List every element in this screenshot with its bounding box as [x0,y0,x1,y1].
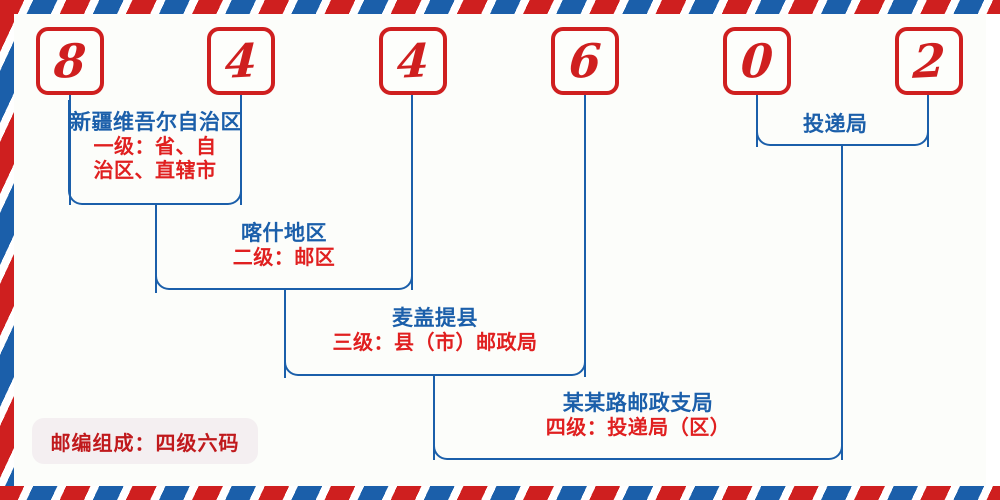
level-4-box: 某某路邮政支局 四级：投递局（区） [433,385,843,460]
digit-glyph: 8 [53,37,88,85]
postcode-digit-4[interactable]: 6 [551,27,619,95]
digit-glyph: 4 [224,37,259,85]
level-3-subtitle: 三级：县（市）邮政局 [286,331,584,355]
digit-glyph: 2 [912,37,947,85]
postcode-digit-2[interactable]: 4 [207,27,275,95]
level-3-box: 麦盖提县 三级：县（市）邮政局 [284,300,586,376]
level-1-title: 新疆维吾尔自治区 [70,110,240,135]
level-2-subtitle: 二级：邮区 [157,246,411,270]
level-1-subtitle-line-2: 治区、直辖市 [70,159,240,183]
postcode-digit-5[interactable]: 0 [723,27,791,95]
delivery-office-label: 投递局 [803,108,868,138]
airmail-stripe-left [0,0,14,500]
level-2-box: 喀什地区 二级：邮区 [155,215,413,290]
legend-badge-text: 邮编组成：四级六码 [51,427,240,456]
envelope-diagram: 8 4 4 6 0 2 新疆维吾尔自治区 一级：省、自 治区、直辖市 喀什地区 … [0,0,1000,500]
level-1-box: 新疆维吾尔自治区 一级：省、自 治区、直辖市 [68,100,242,205]
airmail-stripe-top [0,0,1000,14]
postcode-digit-1[interactable]: 8 [36,27,104,95]
digit-glyph: 0 [740,37,775,85]
postcode-digit-3[interactable]: 4 [379,27,447,95]
level-4-subtitle: 四级：投递局（区） [435,416,841,440]
level-1-subtitle-line-1: 一级：省、自 [70,135,240,159]
digit-glyph: 4 [396,37,431,85]
level-4-title: 某某路邮政支局 [435,391,841,416]
airmail-stripe-bottom [0,486,1000,500]
postcode-digit-6[interactable]: 2 [895,27,963,95]
digit-glyph: 6 [568,37,603,85]
level-3-title: 麦盖提县 [286,306,584,331]
level-2-title: 喀什地区 [157,221,411,246]
legend-badge: 邮编组成：四级六码 [32,418,258,464]
